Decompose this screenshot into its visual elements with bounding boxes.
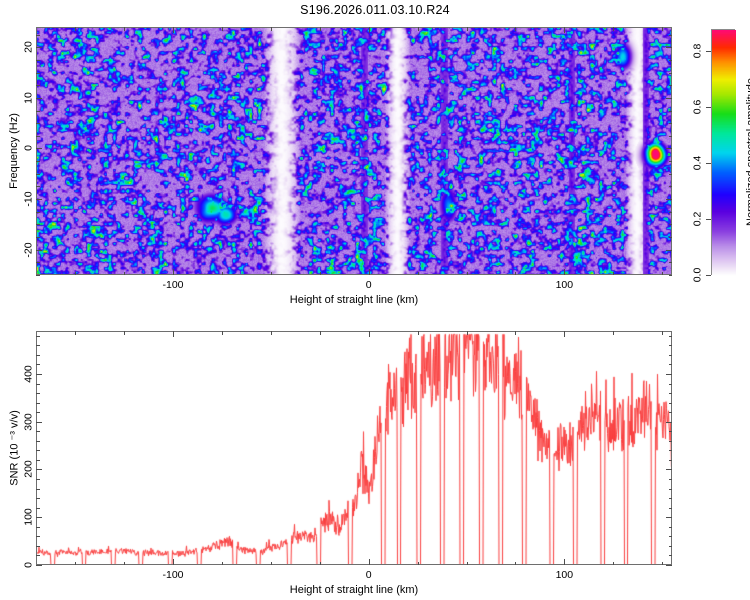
colorbar-gradient: [712, 30, 736, 276]
page-title: S196.2026.011.03.10.R24: [0, 2, 750, 18]
snr-ytick-label: 200: [24, 461, 35, 479]
tick-mark: [36, 275, 40, 276]
snr-ytick-label: 300: [24, 413, 35, 431]
tick-mark: [669, 275, 673, 276]
snr-xtick-label: 0: [366, 570, 372, 581]
spectrogram-image: [37, 28, 672, 275]
snr-ytick-label: 100: [24, 508, 35, 526]
colorbar-tick-label: 0.6: [693, 100, 704, 115]
tick-mark: [706, 275, 711, 276]
spectrogram-xtick-label: 0: [366, 280, 372, 291]
spectrogram-ytick-label: 0: [24, 146, 35, 152]
snr-ytick-label: 0: [24, 562, 35, 568]
spectrogram-ytick-label: -10: [24, 191, 35, 206]
spectrogram-ytick-label: 20: [24, 41, 35, 53]
spectrogram-panel[interactable]: [36, 27, 672, 275]
snr-xtick-label: -100: [162, 570, 183, 581]
snr-xtick-label: 100: [556, 570, 574, 581]
spectrogram-xtick-label: 100: [556, 280, 574, 291]
snr-ytick-label: 400: [24, 365, 35, 383]
snr-line-plot: [37, 332, 672, 565]
figure-root: S196.2026.011.03.10.R24 -1000100-20-1001…: [0, 0, 750, 600]
spectrogram-x-axis-title: Height of straight line (km): [290, 294, 418, 306]
colorbar-tick-label: 0.4: [693, 156, 704, 171]
tick-mark: [36, 565, 42, 566]
spectrogram-ytick-label: 10: [24, 92, 35, 104]
colorbar-tick-label: 0.0: [693, 268, 704, 283]
spectrogram-ytick-label: -20: [24, 242, 35, 257]
snr-x-axis-title: Height of straight line (km): [290, 584, 418, 596]
colorbar[interactable]: [711, 29, 735, 275]
tick-mark: [666, 565, 672, 566]
colorbar-tick-label: 0.8: [693, 44, 704, 59]
snr-panel[interactable]: [36, 331, 672, 565]
colorbar-tick-label: 0.2: [693, 212, 704, 227]
spectrogram-xtick-label: -100: [162, 280, 183, 291]
